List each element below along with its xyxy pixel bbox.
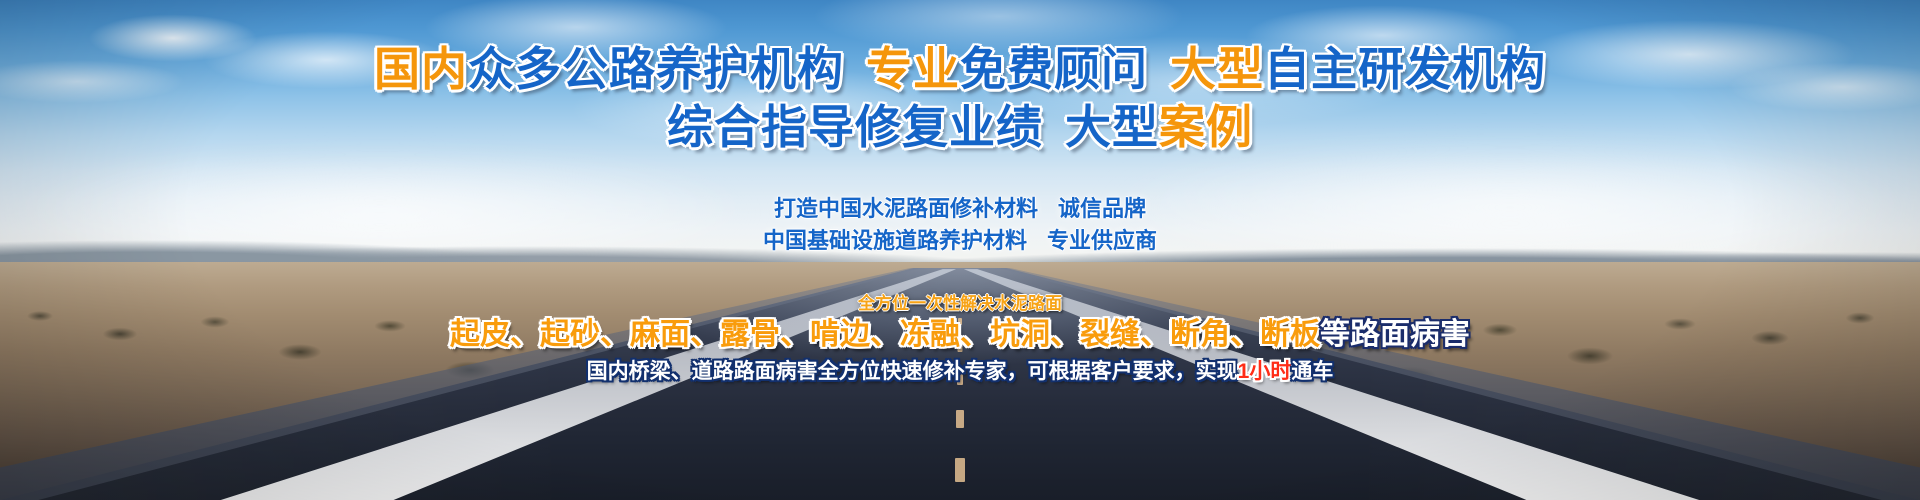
headline-seg-large: 大型 xyxy=(1065,101,1159,153)
subtitle-line-2: 中国基础设施道路养护材料专业供应商 xyxy=(0,225,1920,256)
centerline-dash xyxy=(956,410,964,428)
headline-seg-rnd: 自主研发机构 xyxy=(1264,43,1546,95)
footer-promise-text: 国内桥梁、道路路面病害全方位快速修补专家，可根据客户要求，实现 xyxy=(587,360,1238,383)
footer-defects-list: 起皮、起砂、麻面、露骨、啃边、冻融、坑洞、裂缝、断角、断板 xyxy=(450,318,1320,351)
headline-seg-cases: 案例 xyxy=(1159,101,1253,153)
headline-seg-agencies: 众多公路养护机构 xyxy=(468,43,844,95)
headline-seg-domestic: 国内 xyxy=(374,43,468,95)
subtitle-brand-text: 诚信品牌 xyxy=(1058,196,1146,221)
subtitle-line-1: 打造中国水泥路面修补材料诚信品牌 xyxy=(0,193,1920,224)
headline-seg-free-consult: 免费顾问 xyxy=(960,43,1148,95)
footer-promise-highlight: 1小时 xyxy=(1238,360,1292,383)
headline-line-2: 综合指导修复业绩大型案例 xyxy=(0,100,1920,154)
centerline-dash xyxy=(955,458,965,482)
subtitle-material-text: 打造中国水泥路面修补材料 xyxy=(774,196,1038,221)
promo-banner: 国内众多公路养护机构专业免费顾问大型自主研发机构 综合指导修复业绩大型案例 打造… xyxy=(0,0,1920,500)
footer-lead-line: 全方位一次性解决水泥路面 xyxy=(0,293,1920,315)
footer-promise-line: 国内桥梁、道路路面病害全方位快速修补专家，可根据客户要求，实现1小时通车 xyxy=(0,358,1920,386)
subtitle-infrastructure-text: 中国基础设施道路养护材料 xyxy=(763,228,1027,253)
footer-defects-line: 起皮、起砂、麻面、露骨、啃边、冻融、坑洞、裂缝、断角、断板等路面病害 xyxy=(0,315,1920,355)
subtitle-supplier-text: 专业供应商 xyxy=(1047,228,1157,253)
headline-seg-large-scale: 大型 xyxy=(1170,43,1264,95)
footer-promise-tail: 通车 xyxy=(1291,360,1333,383)
headline-line-1: 国内众多公路养护机构专业免费顾问大型自主研发机构 xyxy=(0,42,1920,96)
headline-seg-professional: 专业 xyxy=(866,43,960,95)
headline-seg-guidance: 综合指导修复业绩 xyxy=(667,101,1043,153)
footer-defects-suffix: 等路面病害 xyxy=(1320,318,1470,351)
